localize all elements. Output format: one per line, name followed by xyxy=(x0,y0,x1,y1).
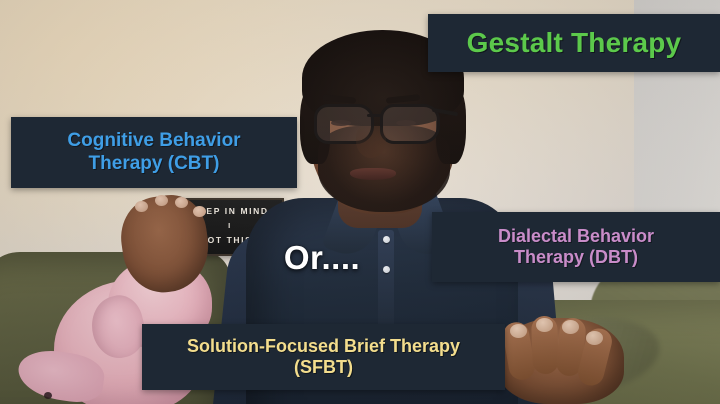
polo-button-top xyxy=(383,236,390,243)
fingernail xyxy=(155,195,168,206)
caption-gestalt-therapy: Gestalt Therapy xyxy=(428,14,720,72)
video-thumbnail: KEEP IN MIND I OT THIS xyxy=(0,0,720,404)
caption-sfbt-line-1: Solution-Focused Brief Therapy xyxy=(187,336,460,357)
caption-cognitive-behavior-therapy: Cognitive Behavior Therapy (CBT) xyxy=(11,117,297,188)
caption-solution-focused-brief-therapy: Solution-Focused Brief Therapy (SFBT) xyxy=(142,324,505,390)
caption-dbt-line-2: Therapy (DBT) xyxy=(498,247,654,268)
plush-elephant-eye xyxy=(44,392,52,399)
subject-nose xyxy=(356,124,386,158)
fingernail xyxy=(193,206,206,217)
polo-button-bottom xyxy=(383,266,390,273)
caption-cbt-line-2: Therapy (CBT) xyxy=(67,153,240,175)
caption-sfbt-line-2: (SFBT) xyxy=(187,357,460,378)
fingernail xyxy=(175,197,188,208)
fingernail xyxy=(562,320,579,334)
caption-gestalt-text: Gestalt Therapy xyxy=(428,26,720,59)
caption-or: Or.... xyxy=(262,236,382,280)
eyeglasses-bridge xyxy=(367,114,383,117)
subject-mouth xyxy=(350,168,396,180)
fingernail xyxy=(510,324,527,338)
caption-cbt-line-1: Cognitive Behavior xyxy=(67,130,240,152)
caption-dbt-line-1: Dialectal Behavior xyxy=(498,226,654,247)
fingernail xyxy=(135,201,148,212)
caption-dialectal-behavior-therapy: Dialectal Behavior Therapy (DBT) xyxy=(432,212,720,282)
fingernail xyxy=(536,318,553,332)
fingernail xyxy=(586,331,603,345)
caption-or-text: Or.... xyxy=(284,239,360,277)
